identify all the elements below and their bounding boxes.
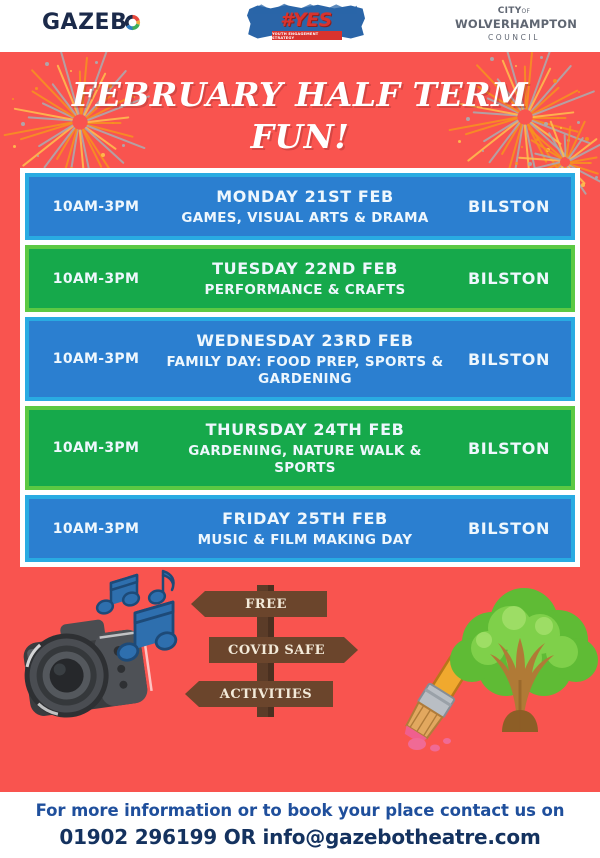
schedule-location: BILSTON	[455, 519, 563, 538]
schedule-location: BILSTON	[455, 350, 563, 369]
schedule-row-inner: 10AM-3PMTUESDAY 22ND FEBPERFORMANCE & CR…	[29, 249, 571, 308]
footer-contact: 01902 296199 OR info@gazebotheatre.com	[0, 825, 600, 849]
schedule-description: GAMES, VISUAL ARTS & DRAMA	[159, 210, 451, 227]
schedule-row: 10AM-3PMFRIDAY 25TH FEBMUSIC & FILM MAKI…	[25, 495, 575, 562]
schedule-detail: WEDNESDAY 23RD FEBFAMILY DAY: FOOD PREP,…	[155, 330, 455, 388]
council-logo: CITYOF WOLVERHAMPTON COUNCIL	[455, 6, 573, 42]
page-title: FEBRUARY HALF TERM FUN!	[0, 74, 600, 158]
schedule-row-inner: 10AM-3PMFRIDAY 25TH FEBMUSIC & FILM MAKI…	[29, 499, 571, 558]
schedule-detail: FRIDAY 25TH FEBMUSIC & FILM MAKING DAY	[155, 508, 455, 549]
signpost-sign-activities: ACTIVITIES	[185, 681, 333, 707]
council-of-text: OF	[522, 8, 531, 15]
schedule-day: THURSDAY 24TH FEB	[159, 419, 451, 440]
schedule-day: WEDNESDAY 23RD FEB	[159, 330, 451, 351]
schedule-description: MUSIC & FILM MAKING DAY	[159, 532, 451, 549]
footer-line1: For more information or to book your pla…	[0, 792, 600, 820]
schedule-day: MONDAY 21ST FEB	[159, 186, 451, 207]
schedule-row: 10AM-3PMTHURSDAY 24TH FEBGARDENING, NATU…	[25, 406, 575, 490]
schedule-row: 10AM-3PMMONDAY 21ST FEBGAMES, VISUAL ART…	[25, 173, 575, 240]
schedule-description: GARDENING, NATURE WALK & SPORTS	[159, 443, 451, 477]
council-logo-line2: WOLVERHAMPTON	[455, 17, 573, 31]
poster-body: FEBRUARY HALF TERM FUN! 10AM-3PMMONDAY 2…	[0, 52, 600, 792]
signpost-icon: FREE COVID SAFE ACTIVITIES	[185, 577, 350, 717]
signpost-sign-free: FREE	[191, 591, 327, 617]
yes-logo-text: #YES	[247, 9, 365, 31]
schedule-row-inner: 10AM-3PMWEDNESDAY 23RD FEBFAMILY DAY: FO…	[29, 321, 571, 397]
schedule-row-inner: 10AM-3PMMONDAY 21ST FEBGAMES, VISUAL ART…	[29, 177, 571, 236]
footer: For more information or to book your pla…	[0, 792, 600, 858]
page-title-line2: FUN!	[0, 116, 600, 158]
page-title-line1: FEBRUARY HALF TERM	[0, 74, 600, 116]
yes-logo: #YES YOUTH ENGAGEMENT STRATEGY	[247, 2, 365, 46]
schedule-time: 10AM-3PM	[37, 271, 155, 287]
schedule-time: 10AM-3PM	[37, 199, 155, 215]
yes-logo-subtitle: YOUTH ENGAGEMENT STRATEGY	[272, 31, 342, 40]
gazebo-logo-text: GAZEB	[42, 10, 127, 35]
schedule-day: TUESDAY 22ND FEB	[159, 258, 451, 279]
schedule-detail: THURSDAY 24TH FEBGARDENING, NATURE WALK …	[155, 419, 455, 477]
schedule-time: 10AM-3PM	[37, 521, 155, 537]
poster: GAZEB #YES YOUTH ENGAGEMENT STRATEGY CI	[0, 0, 600, 858]
council-city-text: CITY	[498, 6, 522, 16]
schedule-detail: TUESDAY 22ND FEBPERFORMANCE & CRAFTS	[155, 258, 455, 299]
council-logo-line3: COUNCIL	[455, 33, 573, 42]
schedule-row: 10AM-3PMWEDNESDAY 23RD FEBFAMILY DAY: FO…	[25, 317, 575, 401]
schedule-row: 10AM-3PMTUESDAY 22ND FEBPERFORMANCE & CR…	[25, 245, 575, 312]
schedule-time: 10AM-3PM	[37, 351, 155, 367]
gazebo-logo: GAZEB	[42, 10, 142, 35]
tree-icon	[440, 582, 600, 742]
schedule-row-inner: 10AM-3PMTHURSDAY 24TH FEBGARDENING, NATU…	[29, 410, 571, 486]
council-logo-line1: CITYOF	[455, 6, 573, 16]
schedule-detail: MONDAY 21ST FEBGAMES, VISUAL ARTS & DRAM…	[155, 186, 455, 227]
schedule-time: 10AM-3PM	[37, 440, 155, 456]
schedule-day: FRIDAY 25TH FEB	[159, 508, 451, 529]
signpost-sign-covid-safe: COVID SAFE	[209, 637, 358, 663]
schedule-location: BILSTON	[455, 197, 563, 216]
schedule-description: FAMILY DAY: FOOD PREP, SPORTS & GARDENIN…	[159, 354, 451, 388]
schedule-description: PERFORMANCE & CRAFTS	[159, 282, 451, 299]
schedule-location: BILSTON	[455, 439, 563, 458]
gazebo-ring-icon	[123, 13, 142, 32]
schedule-frame: 10AM-3PMMONDAY 21ST FEBGAMES, VISUAL ART…	[20, 168, 580, 567]
logo-bar: GAZEB #YES YOUTH ENGAGEMENT STRATEGY CI	[0, 0, 600, 52]
schedule-location: BILSTON	[455, 269, 563, 288]
